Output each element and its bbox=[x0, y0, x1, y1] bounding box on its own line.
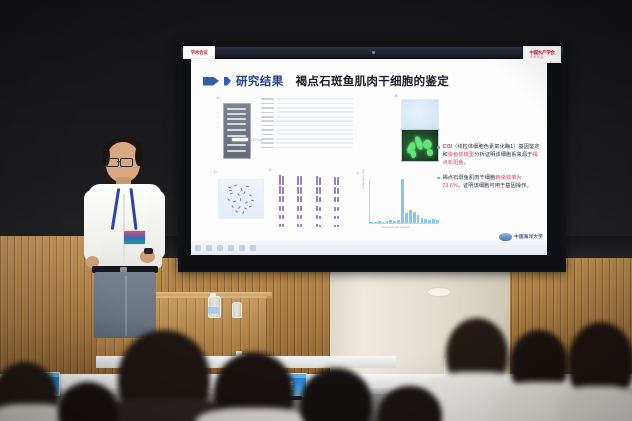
university-name: 中国海洋大学 bbox=[514, 234, 543, 240]
chart-y-label: Frequency (%) bbox=[361, 169, 365, 189]
gel-electrophoresis-image bbox=[223, 103, 251, 159]
chart-bar bbox=[374, 222, 377, 223]
slide-title-row: 研究结果 褐点石斑鱼肌肉干细胞的鉴定 bbox=[203, 73, 449, 89]
conference-logo-left-text: 学术会议 bbox=[191, 50, 208, 55]
bullet-text-1: COI（线粒体细胞色素氧化酶1）基因鉴定和染色体核型分析证明该细胞系来源于褐点石… bbox=[443, 143, 542, 168]
bottle-cap bbox=[210, 293, 216, 297]
micrograph-gfp-fluorescence bbox=[401, 129, 439, 162]
slide-content: 研究结果 褐点石斑鱼肌肉干细胞的鉴定 A ––––– 650 bp bbox=[191, 59, 547, 255]
gel-ladder-labels: ––––– bbox=[217, 105, 219, 130]
micrograph-brightfield bbox=[401, 99, 439, 130]
chart-bars bbox=[370, 179, 439, 223]
bullet-1-lead: COI bbox=[443, 144, 453, 150]
slide-footer-toolbar bbox=[191, 241, 547, 255]
presenter-id-badge bbox=[123, 230, 146, 245]
chart-bar bbox=[386, 221, 389, 223]
panel-label-micrograph-blue: B bbox=[395, 93, 398, 98]
karyotype-figure bbox=[273, 175, 345, 227]
university-logo-icon bbox=[499, 233, 512, 241]
bullet-item-2: 褐点石斑鱼肌肉干细胞转染效率为23.6%，证明该细胞可用于基因操作。 bbox=[437, 174, 541, 190]
chart-bar bbox=[413, 212, 416, 223]
slide-bullet-list: COI（线粒体细胞色素氧化酶1）基因鉴定和染色体核型分析证明该细胞系来源于褐点石… bbox=[437, 143, 541, 196]
audience-body-2 bbox=[196, 408, 312, 421]
chart-bar bbox=[417, 215, 420, 223]
slide-subtitle: 褐点石斑鱼肌肉干细胞的鉴定 bbox=[296, 73, 449, 89]
chart-bar bbox=[378, 221, 381, 223]
arrow-block-icon bbox=[203, 77, 219, 86]
chart-bar bbox=[432, 219, 435, 223]
bottle-label bbox=[208, 307, 219, 314]
screen-indicator-dot bbox=[372, 51, 375, 54]
panel-label-alignment: A bbox=[217, 95, 220, 100]
grid-icon[interactable] bbox=[195, 245, 201, 251]
chart-bar bbox=[405, 213, 408, 223]
chart-bar bbox=[393, 221, 396, 223]
bullet-2-highlight-2: 23.6% bbox=[443, 183, 458, 189]
presentation-clicker bbox=[144, 248, 153, 254]
photo-scene: 学术会议 中国水产学会 学术年会 研究结果 褐点石斑鱼肌肉干细胞的鉴定 A bbox=[0, 0, 632, 421]
bullet-2-text-2: ，证明该细胞可用于基因操作。 bbox=[458, 183, 532, 189]
bullet-1-text-3: 。 bbox=[464, 160, 469, 166]
glasses-bridge bbox=[117, 161, 120, 162]
bullet-2-text-1: 褐点石斑鱼肌肉干细胞 bbox=[443, 175, 496, 181]
chart-bar bbox=[389, 220, 392, 223]
panel-label-chart: F bbox=[357, 171, 359, 176]
chart-bar bbox=[401, 179, 404, 223]
chart-bar bbox=[421, 218, 424, 223]
chart-bar bbox=[436, 220, 439, 223]
chart-bar bbox=[397, 220, 400, 223]
chromosome-count-bar-chart: Frequency (%) Chromosome number bbox=[361, 179, 441, 231]
presenter-arm-left bbox=[84, 190, 101, 262]
shape-icon[interactable] bbox=[217, 245, 223, 251]
chart-bar bbox=[409, 210, 412, 223]
panel-label-karyotype: E bbox=[269, 167, 272, 172]
chart-x-axis bbox=[369, 223, 439, 224]
slide-title: 研究结果 bbox=[236, 73, 284, 89]
panel-label-spread: D bbox=[214, 169, 217, 174]
projection-screen: 学术会议 中国水产学会 学术年会 研究结果 褐点石斑鱼肌肉干细胞的鉴定 A bbox=[178, 44, 566, 272]
presenter-hair-side-right bbox=[135, 146, 143, 166]
university-watermark: 中国海洋大学 bbox=[499, 233, 543, 241]
image-icon[interactable] bbox=[228, 245, 234, 251]
pillar-plaque bbox=[428, 288, 450, 296]
trouser-crease bbox=[125, 276, 127, 336]
conference-logo-left: 学术会议 bbox=[183, 46, 215, 59]
chevron-right-icon bbox=[224, 77, 231, 86]
chart-x-label: Chromosome number bbox=[381, 225, 410, 229]
shirt-placket bbox=[123, 194, 125, 264]
presenter bbox=[78, 138, 174, 338]
bullet-1-highlight-1: 染色体核型 bbox=[448, 152, 474, 158]
chart-bar bbox=[424, 219, 427, 223]
bullet-2-highlight-1: 转染效率为 bbox=[495, 175, 521, 181]
bullet-1-text-2: 分析证明该细胞系来源于 bbox=[474, 152, 532, 158]
bullet-text-2: 褐点石斑鱼肌肉干细胞转染效率为23.6%，证明该细胞可用于基因操作。 bbox=[443, 174, 542, 190]
bullet-dot-icon bbox=[437, 146, 440, 149]
bullet-item-1: COI（线粒体细胞色素氧化酶1）基因鉴定和染色体核型分析证明该细胞系来源于褐点石… bbox=[437, 143, 541, 168]
glasses-lens-right bbox=[120, 158, 133, 167]
water-cup-podium bbox=[232, 302, 242, 318]
text-icon[interactable] bbox=[206, 245, 212, 251]
chart-icon[interactable] bbox=[239, 245, 245, 251]
table-icon[interactable] bbox=[250, 245, 256, 251]
chart-bar bbox=[428, 220, 431, 223]
glasses-lens-left bbox=[106, 158, 119, 167]
bullet-dot-icon bbox=[437, 177, 440, 180]
chromosome-spread-image bbox=[218, 179, 264, 219]
chart-bar bbox=[370, 222, 373, 223]
audience-body-6 bbox=[556, 386, 632, 421]
sequence-alignment-figure bbox=[261, 97, 353, 159]
chart-bar bbox=[382, 222, 385, 223]
